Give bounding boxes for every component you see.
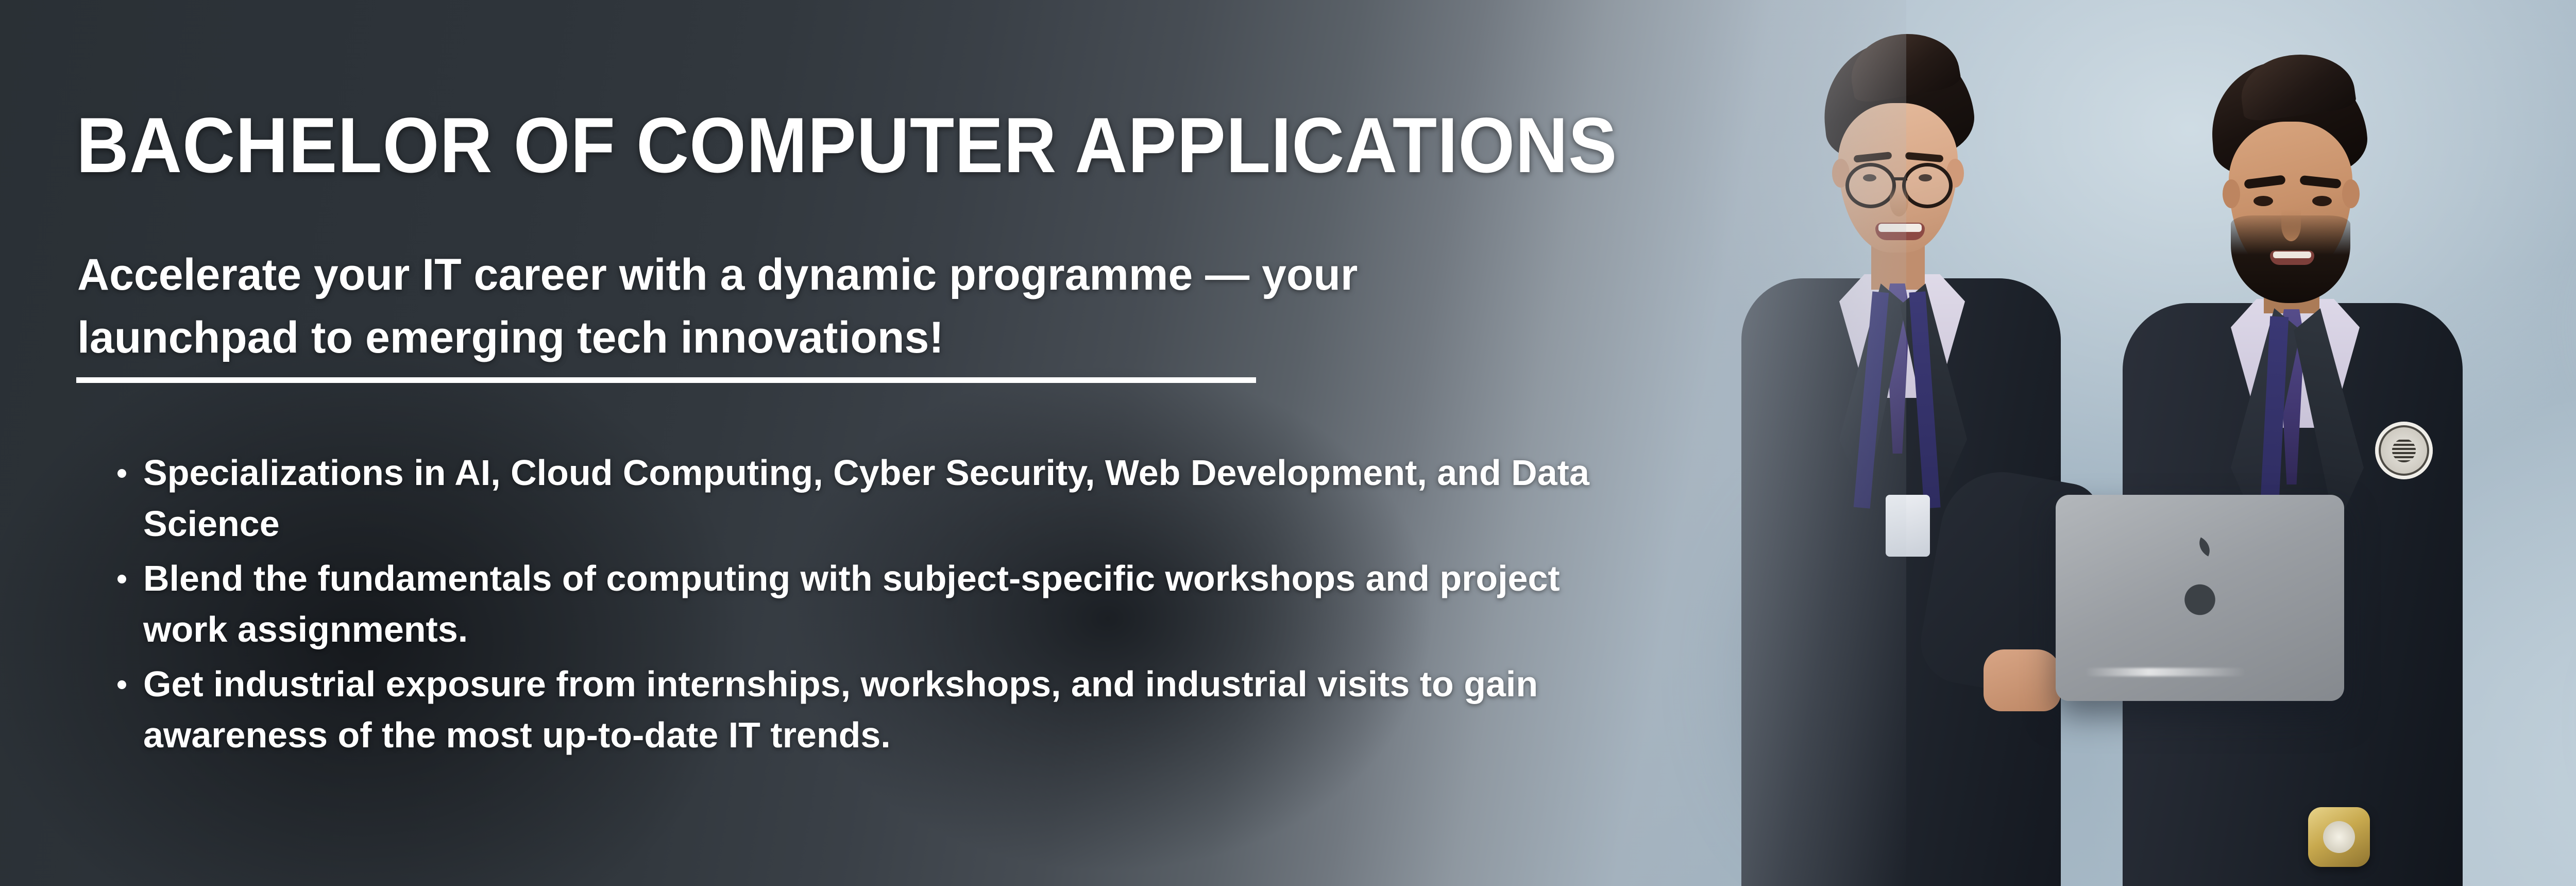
lens-right (1902, 163, 1953, 208)
eye-right (2312, 196, 2332, 206)
nose (2281, 209, 2301, 241)
mouth (2270, 250, 2314, 265)
apple-logo-icon (2178, 569, 2222, 618)
program-banner: BACHELOR OF COMPUTER APPLICATIONS Accele… (0, 0, 2576, 886)
ear-right (2342, 179, 2360, 208)
ear-left (2223, 179, 2240, 208)
page-title: BACHELOR OF COMPUTER APPLICATIONS (76, 106, 1617, 185)
subtitle: Accelerate your IT career with a dynamic… (77, 243, 1571, 369)
apple-logo-leaf (2195, 537, 2215, 556)
wristwatch-icon (2308, 807, 2370, 867)
laptop (2056, 495, 2344, 701)
laptop-sheen (2084, 668, 2246, 676)
divider (76, 377, 1256, 383)
university-crest-icon (2375, 422, 2433, 479)
list-item: Blend the fundamentals of computing with… (143, 553, 1622, 656)
eye-left (2253, 196, 2273, 206)
list-item: Specializations in AI, Cloud Computing, … (143, 447, 1622, 550)
hand (1984, 649, 2061, 711)
feature-list: Specializations in AI, Cloud Computing, … (94, 447, 1622, 764)
list-item: Get industrial exposure from internships… (143, 659, 1622, 761)
